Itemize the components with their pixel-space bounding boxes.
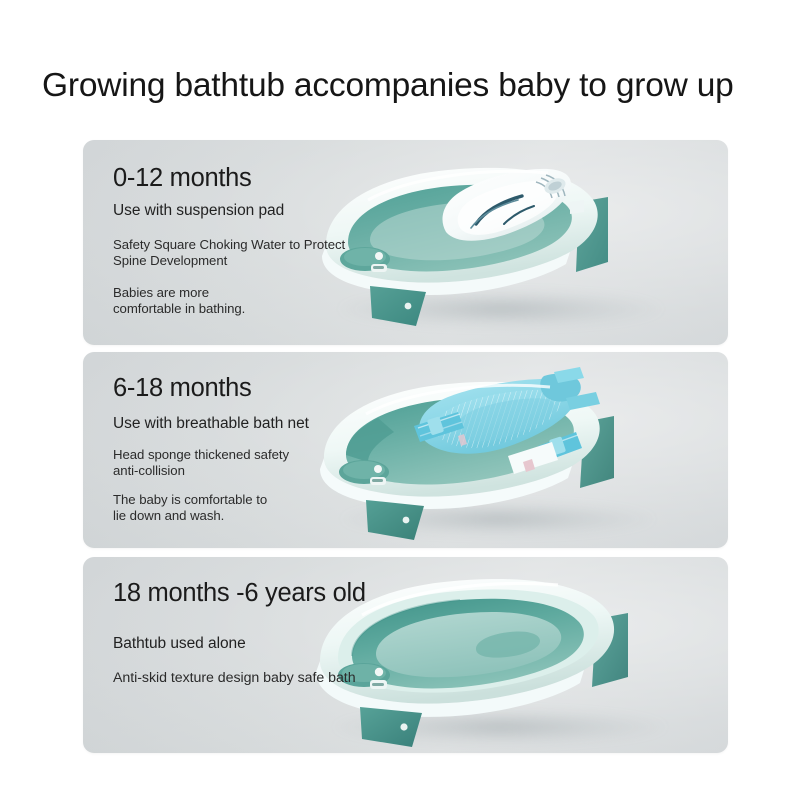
feature-description-2: Babies are more comfortable in bathing. [113, 285, 468, 316]
age-range-label: 0-12 months [113, 164, 468, 193]
stage-panel-18-months-6-years: 18 months -6 years old Bathtub used alon… [83, 557, 728, 753]
feature-description-1: Head sponge thickened safety anti-collis… [113, 447, 468, 478]
feature-line: Safety Square Choking Water to Protect [113, 237, 468, 253]
feature-description-2: The baby is comfortable to lie down and … [113, 492, 468, 523]
feature-line: Anti-skid texture design baby safe bath [113, 671, 468, 687]
feature-line: Babies are more [113, 285, 468, 301]
feature-line: comfortable in bathing. [113, 301, 468, 317]
stage-panel-0-12-months: 0-12 months Use with suspension pad Safe… [83, 140, 728, 345]
feature-line: The baby is comfortable to [113, 492, 468, 508]
usage-lead-text: Use with suspension pad [113, 202, 468, 220]
usage-lead-text: Use with breathable bath net [113, 415, 468, 433]
stage-text-block-1: 6-18 months Use with breathable bath net… [113, 374, 468, 523]
feature-description-1: Anti-skid texture design baby safe bath [113, 671, 468, 687]
feature-line: lie down and wash. [113, 508, 468, 524]
page-title: Growing bathtub accompanies baby to grow… [42, 64, 782, 108]
feature-description-1: Safety Square Choking Water to Protect S… [113, 237, 468, 268]
usage-lead-text: Bathtub used alone [113, 635, 468, 653]
age-range-label: 6-18 months [113, 374, 468, 403]
stage-panel-6-18-months: 6-18 months Use with breathable bath net… [83, 352, 728, 548]
feature-line: Head sponge thickened safety [113, 447, 468, 463]
age-range-label: 18 months -6 years old [113, 579, 468, 608]
stage-text-block-0: 0-12 months Use with suspension pad Safe… [113, 164, 468, 316]
feature-line: Spine Development [113, 253, 468, 269]
infographic-page: Growing bathtub accompanies baby to grow… [0, 0, 800, 800]
feature-line: anti-collision [113, 463, 468, 479]
stage-text-block-2: 18 months -6 years old Bathtub used alon… [113, 579, 468, 687]
